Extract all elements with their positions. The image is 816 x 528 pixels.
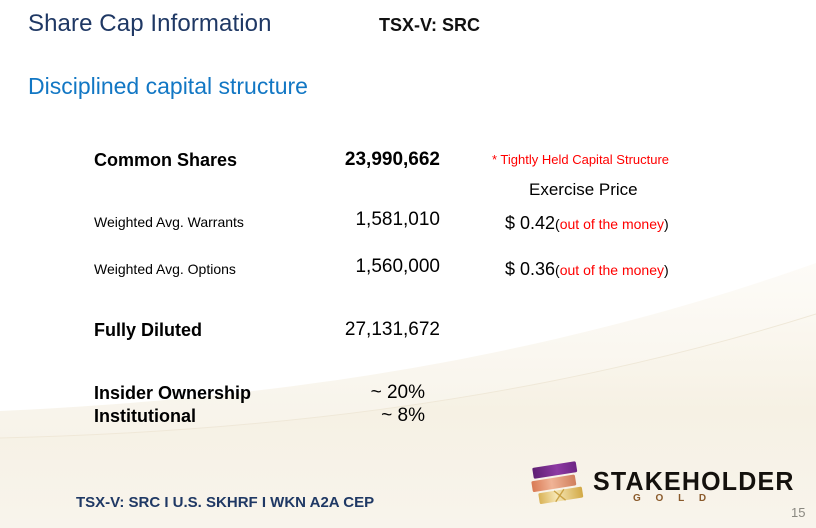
logo-submark: G O L D <box>633 493 712 504</box>
table-row-value-warrants: 1,581,010 <box>240 209 440 231</box>
table-row-value-fully-diluted: 27,131,672 <box>240 319 440 341</box>
table-row-value-options: 1,560,000 <box>240 256 440 278</box>
table-row-value-common-shares: 23,990,662 <box>240 149 440 171</box>
header-ticker-symbol: TSX-V: SRC <box>379 15 480 36</box>
page-number: 15 <box>791 505 805 520</box>
tightly-held-note: * Tightly Held Capital Structure <box>492 152 669 167</box>
close-paren: ) <box>664 216 669 232</box>
exercise-price-heading: Exercise Price <box>529 180 638 200</box>
table-row-value-insider-ownership: ~ 20% <box>240 382 425 404</box>
presentation-slide: Share Cap Information TSX-V: SRC Discipl… <box>0 0 816 528</box>
close-paren: ) <box>664 262 669 278</box>
exercise-price-options-amount: $ 0.36 <box>505 259 555 279</box>
out-of-the-money-label-options: out of the money <box>560 262 664 278</box>
table-row-label-fully-diluted: Fully Diluted <box>94 320 202 341</box>
table-row-label-insider-ownership: Insider Ownership <box>94 383 251 404</box>
table-row-label-common-shares: Common Shares <box>94 150 237 171</box>
footer-ticker-line: TSX-V: SRC I U.S. SKHRF I WKN A2A CEP <box>76 494 374 511</box>
table-row-label-institutional: Institutional <box>94 406 196 427</box>
exercise-price-warrants: $ 0.42(out of the money) <box>505 213 669 234</box>
table-row-label-options: Weighted Avg. Options <box>94 261 236 277</box>
company-logo: STAKEHOLDER G O L D <box>529 461 769 509</box>
exercise-price-options: $ 0.36(out of the money) <box>505 259 669 280</box>
page-title: Share Cap Information <box>28 10 272 38</box>
table-row-label-warrants: Weighted Avg. Warrants <box>94 214 244 230</box>
exercise-price-warrants-amount: $ 0.42 <box>505 213 555 233</box>
table-row-value-institutional: ~ 8% <box>240 405 425 427</box>
three-stacked-bars-icon <box>529 461 589 507</box>
out-of-the-money-label-warrants: out of the money <box>560 216 664 232</box>
page-subtitle: Disciplined capital structure <box>28 73 308 100</box>
